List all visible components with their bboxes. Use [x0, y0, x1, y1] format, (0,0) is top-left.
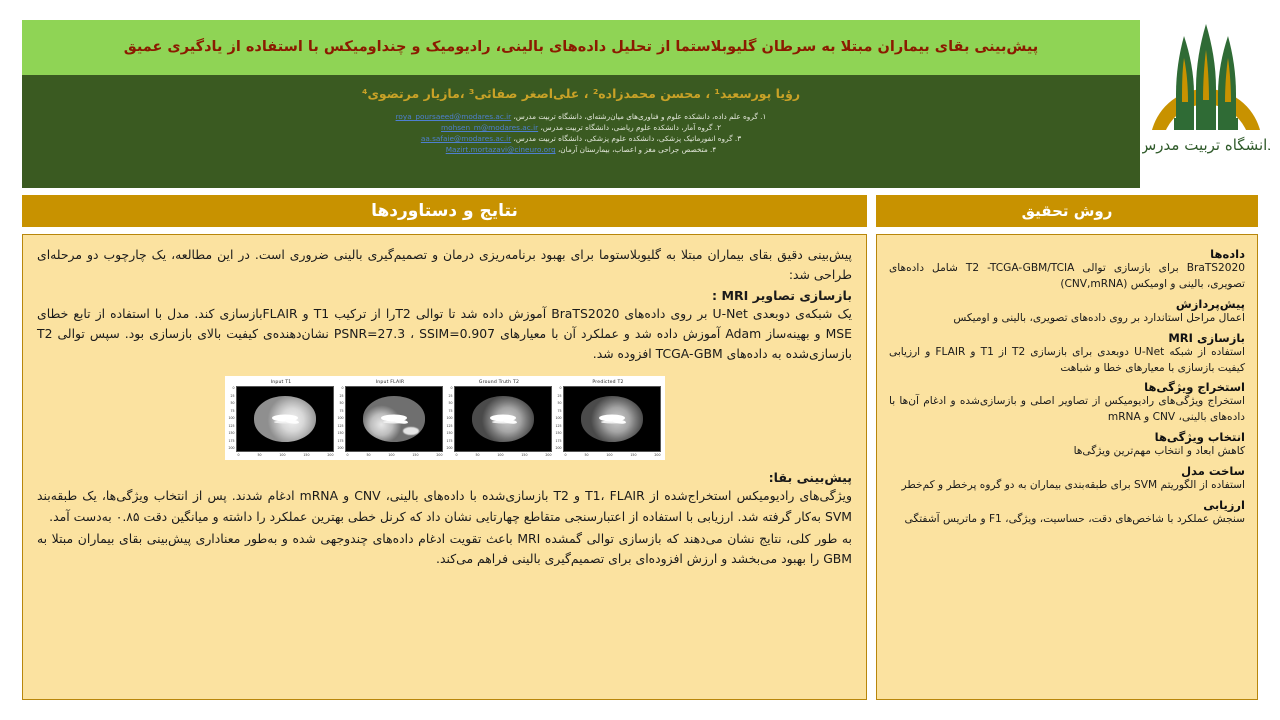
results-intro-text: پیش‌بینی دقیق بقای بیماران مبتلا به گلیو… [37, 245, 852, 285]
method-item-body: اعمال مراحل استاندارد بر روی داده‌های تص… [889, 311, 1245, 327]
mri-image [454, 386, 552, 452]
page-title: پیش‌بینی بقای بیماران مبتلا به سرطان گلی… [124, 38, 1038, 58]
affiliation-number: ۱ [762, 112, 766, 121]
method-item-body: استخراج ویژگی‌های رادیومیکس از تصاویر اص… [889, 394, 1245, 426]
affiliation-email-link[interactable]: mohsen_m@modares.ac.ir [441, 122, 538, 133]
affiliation-text: . گروه علم داده، دانشکده علوم و فناوری‌ه… [514, 112, 763, 121]
method-item-title: پیش‌پردازش [889, 297, 1245, 311]
method-item-body: استفاده از شبکه U-Net دوبعدی برای بازساز… [889, 345, 1245, 377]
affiliation-row: ۴. متخصص جراحی مغز و اعصاب، بیمارستان آر… [32, 144, 1130, 155]
author-list: رؤیا پورسعید¹ ، محسن محمدزاده² ، علی‌اصغ… [32, 86, 1130, 102]
affiliation-row: ۱. گروه علم داده، دانشکده علوم و فناوری‌… [32, 111, 1130, 122]
affiliation-number: ۳ [737, 134, 741, 143]
logo-base-left [1174, 118, 1194, 130]
mri-panel: Ground Truth T2 0255075100125150175200 0… [446, 380, 552, 457]
mri-panel: Predicted T2 0255075100125150175200 0501… [555, 380, 661, 457]
affiliation-text: . گروه انفورماتیک پزشکی، دانشکده علوم پز… [514, 134, 738, 143]
mri-panel-title: Input FLAIR [376, 380, 405, 385]
mri-panel-title: Input T1 [271, 380, 292, 385]
mri-y-axis: 0255075100125150175200 [555, 386, 561, 450]
affiliation-text: . متخصص جراحی مغز و اعصاب، بیمارستان آرم… [558, 145, 712, 154]
method-item-body: BraTS2020 برای بازسازی توالی T2 -TCGA-GB… [889, 261, 1245, 293]
method-item-title: استخراج ویژگی‌ها [889, 380, 1245, 394]
results-sub2-heading: پیش‌بینی بقا: [37, 470, 852, 485]
affiliation-email-link[interactable]: aa.safaie@modares.ac.ir [421, 133, 511, 144]
mri-panel: Input FLAIR 0255075100125150175200 05010… [337, 380, 443, 457]
section-header-method-label: روش تحقیق [1022, 202, 1113, 220]
logo-base-right [1218, 118, 1238, 130]
results-sub1-heading: بازسازی تصاویر MRI : [37, 288, 852, 303]
mri-reconstruction-figure: Input T1 0255075100125150175200 05010015… [225, 376, 665, 460]
mri-x-axis: 050100150200 [456, 453, 552, 457]
ventricle-shape [272, 414, 298, 421]
results-sub2-body: ویژگی‌های رادیومیکس استخراج‌شده از T1، F… [37, 486, 852, 526]
method-panel: داده‌ها BraTS2020 برای بازسازی توالی T2 … [876, 234, 1258, 700]
affiliation-row: ۳. گروه انفورماتیک پزشکی، دانشکده علوم پ… [32, 133, 1130, 144]
method-item-title: ارزیابی [889, 498, 1245, 512]
affiliation-number: ۲ [717, 123, 721, 132]
poster-header: پیش‌بینی بقای بیماران مبتلا به سرطان گلی… [22, 20, 1140, 188]
mri-image [563, 386, 661, 452]
mri-x-axis: 050100150200 [238, 453, 334, 457]
logo-base-mid [1196, 116, 1216, 130]
section-header-method: روش تحقیق [876, 195, 1258, 227]
mri-y-axis: 0255075100125150175200 [228, 386, 234, 450]
mri-panel-title: Ground Truth T2 [479, 380, 519, 385]
ventricle-shape [381, 414, 407, 421]
affiliation-text: . گروه آمار، دانشکده علوم ریاضی، دانشگاه… [540, 123, 717, 132]
mri-panel: Input T1 0255075100125150175200 05010015… [228, 380, 334, 457]
method-item-title: ساخت مدل [889, 464, 1245, 478]
logo-wordmark: دانشگاه تربیت مدرس [1142, 136, 1270, 154]
results-sub1-body: یک شبکه‌ی دوبعدی U-Net بر روی داده‌های B… [37, 304, 852, 364]
mri-image [345, 386, 443, 452]
method-item-title: انتخاب ویژگی‌ها [889, 430, 1245, 444]
affiliation-email-link[interactable]: Mazirt.mortazavi@cineuro.org [446, 144, 556, 155]
section-header-results: نتایج و دستاوردها [22, 195, 867, 227]
method-item-title: بازسازی MRI [889, 331, 1245, 345]
authors-band: رؤیا پورسعید¹ ، محسن محمدزاده² ، علی‌اصغ… [22, 75, 1140, 188]
method-item-title: داده‌ها [889, 247, 1245, 261]
ventricle-shape [490, 414, 516, 421]
mri-image [236, 386, 334, 452]
university-logo: دانشگاه تربیت مدرس [1140, 10, 1272, 190]
mri-y-axis: 0255075100125150175200 [446, 386, 452, 450]
affiliation-number: ۴ [712, 145, 716, 154]
mri-x-axis: 050100150200 [565, 453, 661, 457]
mri-panel-title: Predicted T2 [592, 380, 623, 385]
university-logo-icon: دانشگاه تربیت مدرس [1142, 10, 1270, 170]
title-band: پیش‌بینی بقای بیماران مبتلا به سرطان گلی… [22, 20, 1140, 75]
poster-canvas: پیش‌بینی بقای بیماران مبتلا به سرطان گلی… [0, 0, 1280, 720]
method-item-body: سنجش عملکرد با شاخص‌های دقت، حساسیت، ویژ… [889, 512, 1245, 528]
section-header-results-label: نتایج و دستاوردها [371, 201, 518, 221]
affiliation-email-link[interactable]: roya_poursaeed@modares.ac.ir [396, 111, 512, 122]
mri-y-axis: 0255075100125150175200 [337, 386, 343, 450]
results-conclusion: به طور کلی، نتایج نشان می‌دهند که بازساز… [37, 529, 852, 569]
affiliation-row: ۲. گروه آمار، دانشکده علوم ریاضی، دانشگا… [32, 122, 1130, 133]
method-item-body: کاهش ابعاد و انتخاب مهم‌ترین ویژگی‌ها [889, 444, 1245, 460]
ventricle-shape [599, 414, 625, 421]
method-item-body: استفاده از الگوریتم SVM برای طبقه‌بندی ب… [889, 478, 1245, 494]
mri-x-axis: 050100150200 [347, 453, 443, 457]
results-panel: پیش‌بینی دقیق بقای بیماران مبتلا به گلیو… [22, 234, 867, 700]
